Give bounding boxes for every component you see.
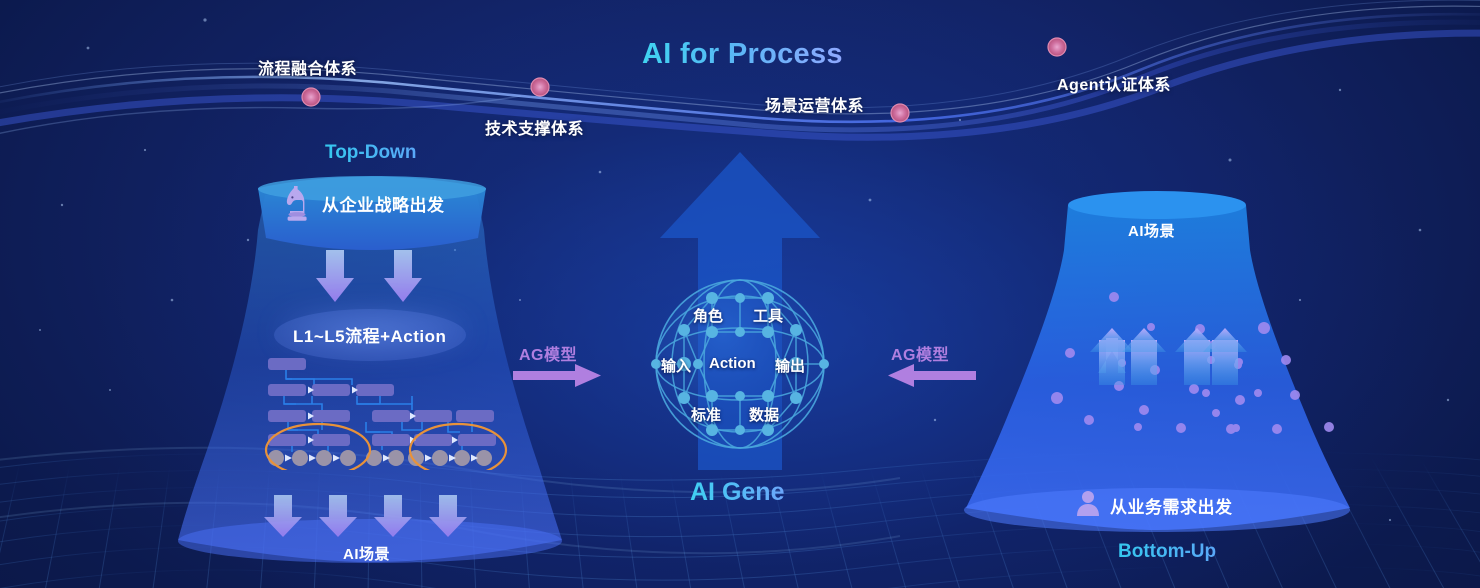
- right-top-label: AI场景: [1128, 220, 1175, 241]
- wave-label-0[interactable]: 流程融合体系: [258, 55, 357, 79]
- right-bottom-label: 从业务需求出发: [1110, 493, 1233, 518]
- wave-label-1[interactable]: 技术支撑体系: [485, 115, 584, 139]
- page-title: AI for Process: [642, 38, 843, 71]
- ag-model-label-left: AG模型: [519, 341, 577, 365]
- center-caption-ai-gene: AI Gene: [690, 478, 784, 507]
- left-bottom-label: AI场景: [343, 543, 390, 564]
- left-caption-top-down: Top-Down: [325, 142, 416, 164]
- wave-label-3[interactable]: Agent认证体系: [1057, 71, 1171, 95]
- left-top-label: 从企业战略出发: [322, 191, 445, 216]
- infographic-canvas: 角色 工具 输入 Action 输出 标准 数据 AI for Process …: [0, 0, 1480, 588]
- left-mid-label: L1~L5流程+Action: [293, 322, 446, 347]
- wave-label-2[interactable]: 场景运营体系: [765, 92, 864, 116]
- ag-model-label-right: AG模型: [891, 341, 949, 365]
- right-caption-bottom-up: Bottom-Up: [1118, 541, 1216, 563]
